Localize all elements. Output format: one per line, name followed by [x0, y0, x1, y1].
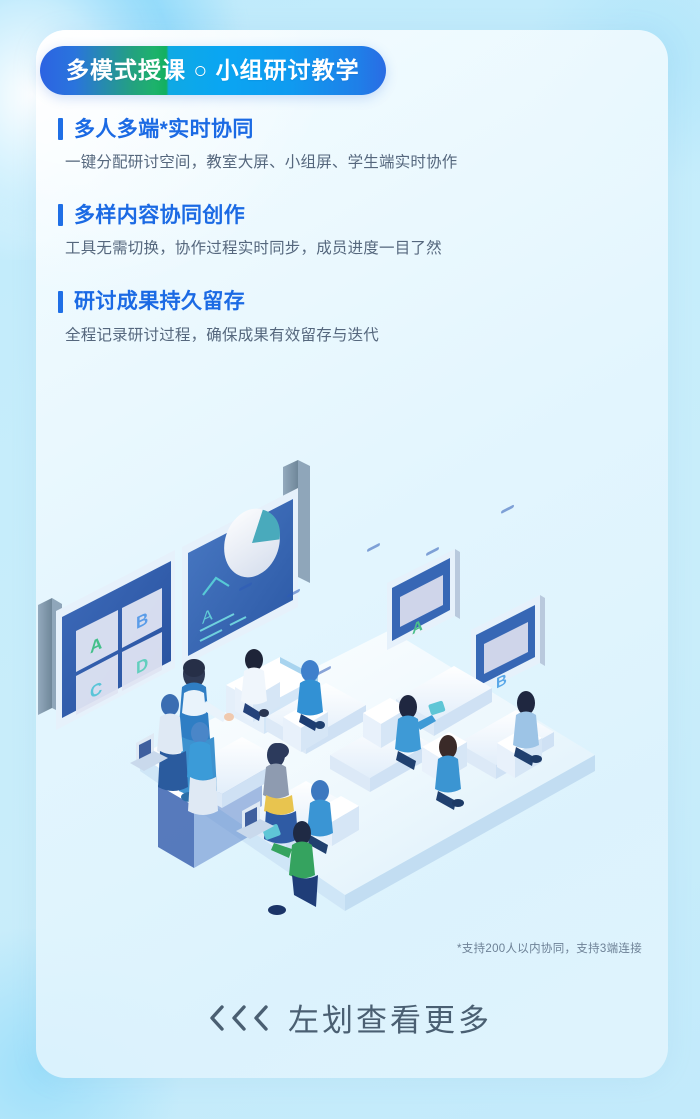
headline-badge-label: 多模式授课 ○ 小组研讨教学 — [66, 59, 360, 82]
feature-title: 多样内容协同创作 — [74, 205, 245, 226]
accent-bar-icon — [58, 204, 63, 226]
main-display-quadrants: A B C D — [56, 550, 175, 730]
feature-item: 研讨成果持久留存 全程记录研讨过程，确保成果有效留存与迭代 — [22, 291, 622, 347]
group-display-b: B — [471, 595, 545, 697]
headline-badge: 多模式授课 ○ 小组研讨教学 — [40, 46, 386, 95]
chevron-left-group — [208, 1003, 271, 1033]
chevron-left-icon — [252, 1003, 271, 1033]
group-display-a: A — [387, 549, 460, 650]
feature-description: 全程记录研讨过程，确保成果有效留存与迭代 — [22, 324, 622, 347]
feature-item: 多人多端*实时协同 一键分配研讨空间，教室大屏、小组屏、学生端实时协作 — [22, 118, 622, 174]
feature-title: 多人多端*实时协同 — [74, 119, 254, 140]
swipe-cta-label: 左划查看更多 — [288, 995, 492, 1040]
main-display-chart: A — [182, 488, 298, 666]
feature-item: 多样内容协同创作 工具无需切换，协作过程实时同步，成员进度一目了然 — [22, 204, 622, 260]
feature-heading: 多人多端*实时协同 — [22, 118, 622, 140]
chevron-left-icon — [230, 1003, 249, 1033]
feature-description: 工具无需切换，协作过程实时同步，成员进度一目了然 — [22, 237, 622, 260]
feature-title: 研讨成果持久留存 — [74, 291, 245, 312]
feature-heading: 多样内容协同创作 — [22, 204, 622, 226]
feature-description: 一键分配研讨空间，教室大屏、小组屏、学生端实时协作 — [22, 151, 622, 174]
feature-heading: 研讨成果持久留存 — [22, 291, 622, 313]
chevron-left-icon — [208, 1003, 227, 1033]
person-student — [241, 649, 269, 721]
classroom-illustration: A B C D A A B — [30, 455, 605, 955]
feature-list: 多人多端*实时协同 一键分配研讨空间，教室大屏、小组屏、学生端实时协作 多样内容… — [22, 118, 622, 377]
swipe-cta[interactable]: 左划查看更多 — [0, 995, 700, 1040]
footnote-text: *支持200人以内协同，支持3端连接 — [457, 940, 642, 956]
accent-bar-icon — [58, 291, 63, 313]
accent-bar-icon — [58, 118, 63, 140]
